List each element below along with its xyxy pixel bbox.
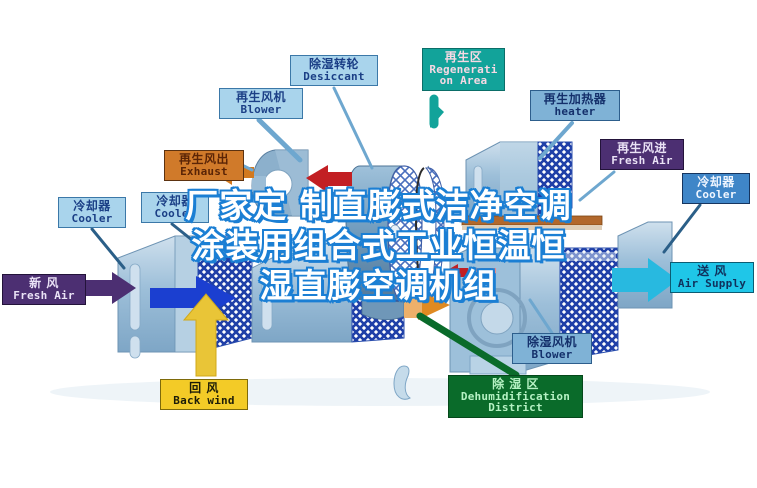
label-regen-fresh-air-in-cn: 再生风进 bbox=[605, 142, 679, 155]
label-cooler-middle-en: Cooler bbox=[146, 208, 204, 220]
label-regen-fresh-air-in-en: Fresh Air bbox=[605, 155, 679, 167]
label-regeneration-area[interactable]: 再生区 Regenerati on Area bbox=[422, 48, 505, 91]
label-dehumidify-blower[interactable]: 除湿风机 Blower bbox=[512, 333, 592, 364]
label-fresh-air-in[interactable]: 新 风 Fresh Air bbox=[2, 274, 86, 305]
label-cooler-middle-cn: 冷却器 bbox=[146, 195, 204, 208]
label-dehumidify-blower-en: Blower bbox=[517, 349, 587, 361]
label-cooler-left[interactable]: 冷却器 Cooler bbox=[58, 197, 126, 228]
label-layer: 再生风机 Blower 除湿转轮 Desiccant 再生区 Regenerat… bbox=[0, 0, 757, 488]
dehumidifier-system-diagram: 再生风机 Blower 除湿转轮 Desiccant 再生区 Regenerat… bbox=[0, 0, 757, 488]
label-regen-fresh-air-in[interactable]: 再生风进 Fresh Air bbox=[600, 139, 684, 170]
label-regen-blower-cn: 再生风机 bbox=[224, 91, 298, 104]
label-desiccant-wheel-en: Desiccant bbox=[295, 71, 373, 83]
label-fresh-air-in-cn: 新 风 bbox=[7, 277, 81, 290]
label-dehumidification-district-en-line2: District bbox=[453, 402, 578, 414]
label-fresh-air-in-en: Fresh Air bbox=[7, 290, 81, 302]
label-regen-blower[interactable]: 再生风机 Blower bbox=[219, 88, 303, 119]
label-cooler-middle[interactable]: 冷却器 Cooler bbox=[141, 192, 209, 223]
label-dehumidification-district[interactable]: 除 湿 区 Dehumidification District bbox=[448, 375, 583, 418]
label-dehumidify-blower-cn: 除湿风机 bbox=[517, 336, 587, 349]
label-regen-exhaust-out-en: Exhaust bbox=[169, 166, 239, 178]
label-cooler-right-cn: 冷却器 bbox=[687, 176, 745, 189]
label-dehumidification-district-cn: 除 湿 区 bbox=[453, 378, 578, 391]
label-air-supply-out[interactable]: 送 风 Air Supply bbox=[670, 262, 754, 293]
label-regen-exhaust-out[interactable]: 再生风出 Exhaust bbox=[164, 150, 244, 181]
label-regeneration-area-en-line2: on Area bbox=[427, 75, 500, 87]
label-cooler-right[interactable]: 冷却器 Cooler bbox=[682, 173, 750, 204]
label-cooler-left-cn: 冷却器 bbox=[63, 200, 121, 213]
label-regen-heater[interactable]: 再生加热器 heater bbox=[530, 90, 620, 121]
label-regen-heater-cn: 再生加热器 bbox=[535, 93, 615, 106]
label-desiccant-wheel[interactable]: 除湿转轮 Desiccant bbox=[290, 55, 378, 86]
label-cooler-right-en: Cooler bbox=[687, 189, 745, 201]
label-regen-heater-en: heater bbox=[535, 106, 615, 118]
label-desiccant-wheel-cn: 除湿转轮 bbox=[295, 58, 373, 71]
label-regeneration-area-cn: 再生区 bbox=[427, 51, 500, 64]
label-cooler-left-en: Cooler bbox=[63, 213, 121, 225]
label-back-wind-in-en: Back wind bbox=[165, 395, 243, 407]
label-air-supply-out-en: Air Supply bbox=[675, 278, 749, 290]
label-back-wind-in-cn: 回 风 bbox=[165, 382, 243, 395]
label-regen-blower-en: Blower bbox=[224, 104, 298, 116]
label-regen-exhaust-out-cn: 再生风出 bbox=[169, 153, 239, 166]
label-back-wind-in[interactable]: 回 风 Back wind bbox=[160, 379, 248, 410]
label-air-supply-out-cn: 送 风 bbox=[675, 265, 749, 278]
